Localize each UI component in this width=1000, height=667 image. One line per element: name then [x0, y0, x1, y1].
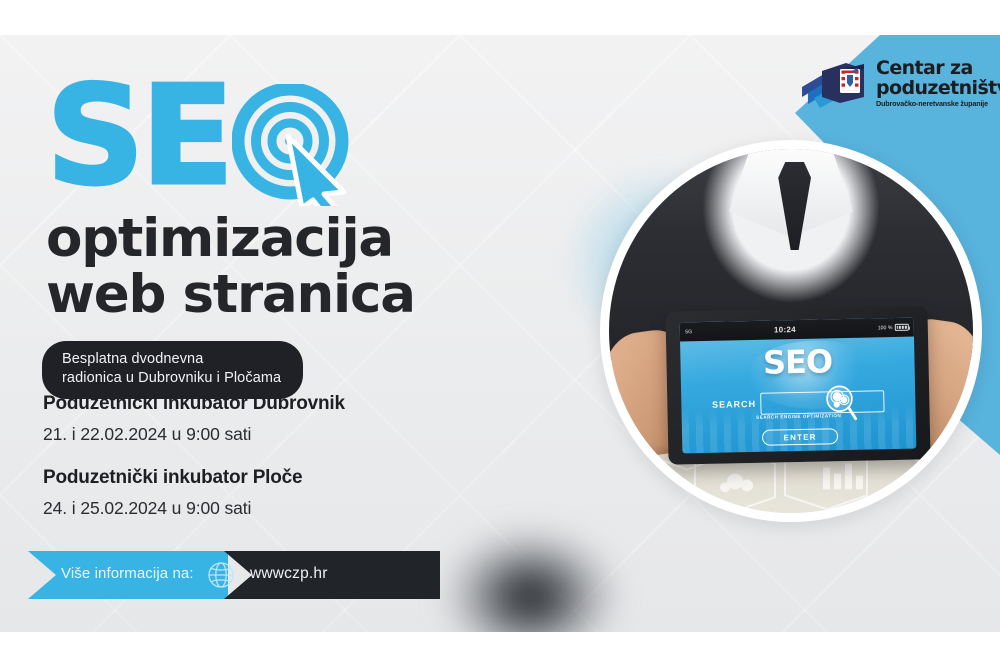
- tablet-device: 5G 10:24 100 % SEO SEARCH SEARCH ENGINE …: [666, 306, 931, 464]
- more-info-ribbon[interactable]: Više informacija na: wwwczp.hr: [28, 551, 440, 599]
- tablet-seo-text: SEO: [681, 344, 915, 381]
- badge-line-2: radionica u Dubrovniku i Pločama: [62, 369, 281, 388]
- tablet-network-label: 5G: [685, 329, 692, 335]
- venue-date-ploce: 24. i 25.02.2024 u 9:00 sati: [43, 498, 345, 519]
- tablet-clock: 10:24: [774, 325, 796, 334]
- venue-title-ploce: Poduzetnički inkubator Ploče: [43, 467, 345, 489]
- tablet-enter-button[interactable]: ENTER: [762, 428, 839, 446]
- seo-workshop-poster: SE optimizacija web stranica Besplatna d…: [0, 0, 1000, 667]
- headline-line-2: optimizacija: [46, 212, 415, 266]
- tablet-battery-label: 100 %: [878, 325, 893, 331]
- tablet-screen: 5G 10:24 100 % SEO SEARCH SEARCH ENGINE …: [680, 317, 916, 453]
- bottom-white-band: [0, 632, 1000, 667]
- logo-line-2: poduzetništvo: [876, 79, 1000, 98]
- magnifier-gears-icon: [810, 384, 871, 425]
- tablet-search-label: SEARCH: [712, 399, 756, 410]
- venue-title-dubrovnik: Poduzetnički inkubator Dubrovnik: [43, 393, 345, 415]
- logo-line-1: Centar za: [876, 59, 1000, 78]
- venue-date-dubrovnik: 21. i 22.02.2024 u 9:00 sati: [43, 424, 345, 445]
- headline-block: SE optimizacija web stranica: [46, 78, 415, 322]
- globe-icon: [206, 560, 236, 590]
- tablet-status-bar: 5G 10:24 100 %: [680, 317, 914, 342]
- headline-line-3: web stranica: [46, 268, 415, 322]
- tablet-battery-group: 100 %: [878, 324, 909, 332]
- logo-wordmark: Centar za poduzetništvo Dubrovačko-neret…: [876, 59, 1000, 107]
- photo-tie: [778, 162, 811, 251]
- businessman-holding-tablet-photo: 5G 10:24 100 % SEO SEARCH SEARCH ENGINE …: [609, 149, 973, 513]
- logo-line-3: Dubrovačko-neretvanske županije: [876, 100, 1000, 107]
- more-info-label: Više informacija na:: [61, 565, 194, 582]
- target-cursor-icon: [232, 84, 357, 206]
- centar-za-poduzetnistvo-logo-icon: [800, 57, 870, 109]
- seo-logotype: SE: [46, 78, 415, 206]
- top-white-band: [0, 0, 1000, 35]
- workshop-badge: Besplatna dvodnevna radionica u Dubrovni…: [42, 341, 303, 399]
- seo-letters: SE: [46, 78, 230, 196]
- badge-line-1: Besplatna dvodnevna: [62, 350, 281, 369]
- venue-list: Poduzetnički inkubator Dubrovnik 21. i 2…: [43, 393, 345, 519]
- organization-logo: Centar za poduzetništvo Dubrovačko-neret…: [800, 57, 1000, 109]
- battery-icon: [895, 324, 909, 331]
- website-url[interactable]: wwwczp.hr: [250, 565, 328, 583]
